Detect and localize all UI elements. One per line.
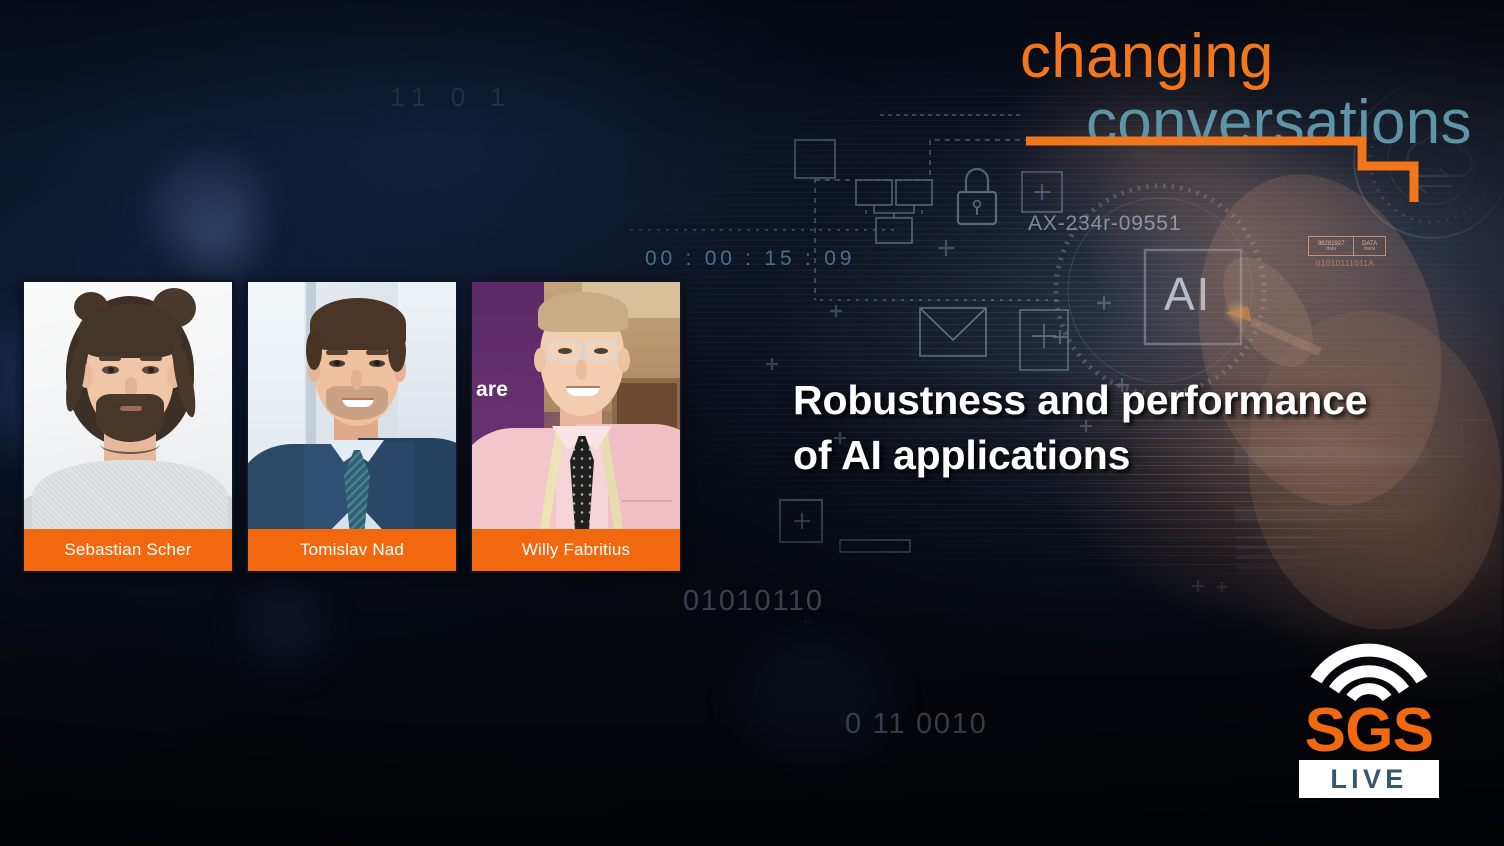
sgs-live-label: LIVE xyxy=(1330,764,1407,795)
speaker-name-label: Tomislav Nad xyxy=(248,529,456,571)
title-line-2: of AI applications xyxy=(793,428,1493,483)
photo-banner-text: are xyxy=(476,378,540,402)
sgs-wordmark: SGS xyxy=(1294,700,1444,762)
speaker-card[interactable]: are xyxy=(470,280,682,573)
sgs-live-logo: SGS LIVE xyxy=(1294,636,1444,800)
speech-bubble-tail-icon xyxy=(1014,14,1484,214)
wifi-signal-icon xyxy=(1294,636,1444,702)
speaker-name-label: Willy Fabritius xyxy=(472,529,680,571)
speaker-name-label: Sebastian Scher xyxy=(24,529,232,571)
changing-conversations-logo: changing conversations xyxy=(1014,14,1484,214)
speaker-photo xyxy=(24,282,232,529)
title-line-1: Robustness and performance xyxy=(793,373,1493,428)
speaker-list: Sebastian Scher xyxy=(22,280,682,573)
speaker-card[interactable]: Tomislav Nad xyxy=(246,280,458,573)
page-title: Robustness and performance of AI applica… xyxy=(793,373,1493,483)
speaker-card[interactable]: Sebastian Scher xyxy=(22,280,234,573)
speaker-photo: are xyxy=(472,282,680,529)
speaker-photo xyxy=(248,282,456,529)
sgs-live-box: LIVE xyxy=(1299,760,1439,798)
slide-stage: AX-234r-09551 AI 00 : 00 : 15 : 09 01010… xyxy=(0,0,1504,846)
